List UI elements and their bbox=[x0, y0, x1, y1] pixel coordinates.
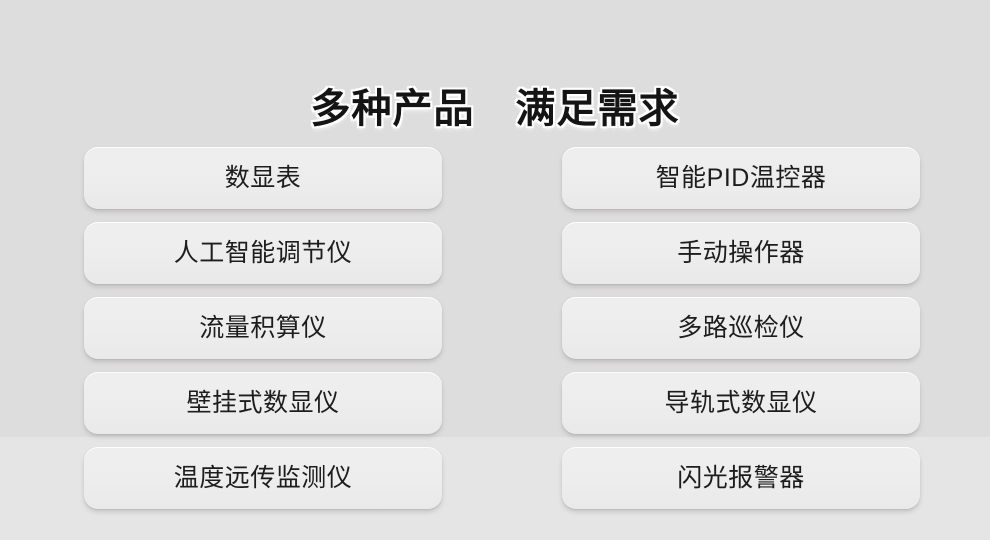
product-card-label: 智能PID温控器 bbox=[656, 166, 827, 191]
product-card-label: 数显表 bbox=[225, 166, 302, 191]
product-card-rengongzhinengtiaojieyi[interactable]: 人工智能调节仪 bbox=[84, 222, 442, 284]
product-column-right: 智能PID温控器 手动操作器 多路巡检仪 导轨式数显仪 闪光报警器 bbox=[562, 147, 920, 509]
product-card-label: 壁挂式数显仪 bbox=[186, 391, 339, 416]
product-card-label: 温度远传监测仪 bbox=[174, 466, 353, 491]
product-card-duoluxunjianyi[interactable]: 多路巡检仪 bbox=[562, 297, 920, 359]
slide-root: 多种产品 满足需求 数显表 人工智能调节仪 流量积算仪 壁挂式数显仪 温度远传监… bbox=[0, 0, 990, 540]
product-column-left: 数显表 人工智能调节仪 流量积算仪 壁挂式数显仪 温度远传监测仪 bbox=[84, 147, 442, 509]
product-card-label: 闪光报警器 bbox=[677, 466, 805, 491]
product-card-label: 导轨式数显仪 bbox=[664, 391, 817, 416]
product-card-label: 多路巡检仪 bbox=[677, 316, 805, 341]
page-title: 多种产品 满足需求 bbox=[0, 83, 990, 135]
product-card-grid: 数显表 人工智能调节仪 流量积算仪 壁挂式数显仪 温度远传监测仪 智能PID温控… bbox=[84, 147, 920, 509]
product-card-shoudongcaozuoqi[interactable]: 手动操作器 bbox=[562, 222, 920, 284]
product-card-label: 人工智能调节仪 bbox=[174, 241, 353, 266]
product-card-zhinengpidwenkongqi[interactable]: 智能PID温控器 bbox=[562, 147, 920, 209]
product-card-daoguishishuxianyi[interactable]: 导轨式数显仪 bbox=[562, 372, 920, 434]
product-card-label: 手动操作器 bbox=[677, 241, 805, 266]
product-card-wenduyuanchuanjianceyi[interactable]: 温度远传监测仪 bbox=[84, 447, 442, 509]
product-card-shuxianbiao[interactable]: 数显表 bbox=[84, 147, 442, 209]
product-card-biguashishuxianyi[interactable]: 壁挂式数显仪 bbox=[84, 372, 442, 434]
product-card-liuliangjisuanyi[interactable]: 流量积算仪 bbox=[84, 297, 442, 359]
product-card-label: 流量积算仪 bbox=[199, 316, 327, 341]
product-card-shanguangbaojingqi[interactable]: 闪光报警器 bbox=[562, 447, 920, 509]
